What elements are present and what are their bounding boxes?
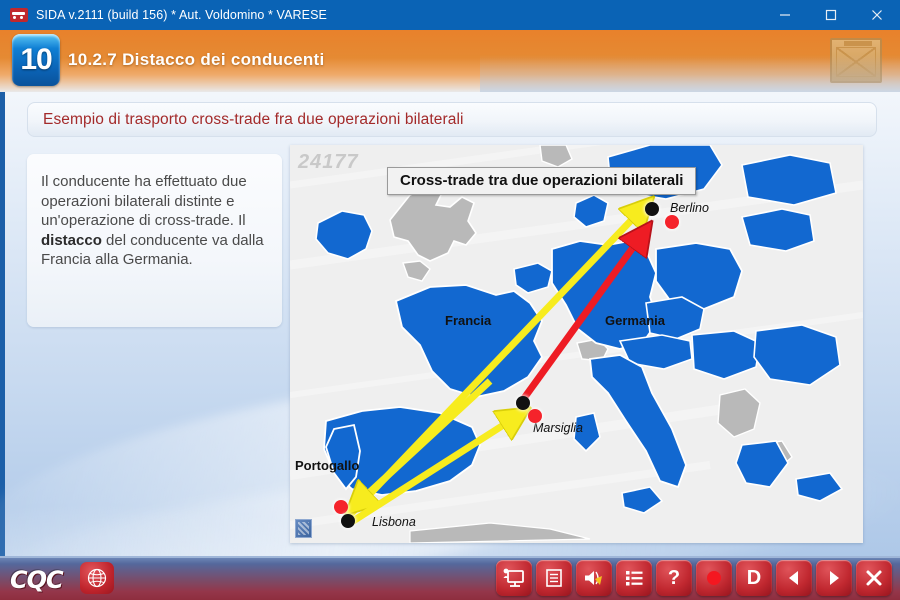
country-label-portogallo: Portogallo (295, 458, 359, 473)
maximize-icon[interactable] (808, 0, 854, 30)
globe-icon[interactable] (80, 562, 114, 594)
subtitle-banner: Esempio di trasporto cross-trade fra due… (27, 102, 877, 137)
explanation-panel: Il conducente ha effettuato due operazio… (27, 154, 282, 327)
marker-berlino-end (665, 215, 679, 229)
truck-icon (10, 8, 28, 22)
explanation-bold: distacco (41, 232, 102, 249)
marker-berlino-start (645, 202, 659, 216)
country-label-germania: Germania (605, 313, 665, 328)
cqc-logo: CQC (10, 566, 63, 594)
speaker-icon[interactable] (576, 560, 612, 596)
previous-icon[interactable] (776, 560, 812, 596)
help-icon[interactable]: ? (656, 560, 692, 596)
wooden-crate-icon (830, 38, 882, 83)
city-label-marsiglia: Marsiglia (533, 421, 583, 435)
exit-icon[interactable] (856, 560, 892, 596)
window-controls (762, 0, 900, 30)
toolbar-buttons: ? D (496, 560, 892, 596)
marker-marsiglia-end (528, 409, 542, 423)
map-stamp-icon (295, 519, 312, 538)
map-graphic (290, 145, 863, 543)
dictionary-icon[interactable]: D (736, 560, 772, 596)
window-title: SIDA v.2111 (build 156) * Aut. Voldomino… (36, 8, 327, 22)
minimize-icon[interactable] (762, 0, 808, 30)
country-baltics (742, 209, 814, 251)
city-label-berlino: Berlino (670, 201, 709, 215)
close-icon[interactable] (854, 0, 900, 30)
marker-marsiglia-start (516, 396, 530, 410)
chapter-header: 10 10.2.7 Distacco dei conducenti (0, 30, 900, 92)
dictionary-label: D (747, 568, 761, 588)
marker-lisbona-start (341, 514, 355, 528)
presentation-icon[interactable] (496, 560, 532, 596)
explanation-text: Il conducente ha effettuato due operazio… (41, 172, 268, 270)
subtitle-text: Esempio di trasporto cross-trade fra due… (43, 111, 464, 129)
title-bar: SIDA v.2111 (build 156) * Aut. Voldomino… (0, 0, 900, 30)
country-finland (742, 155, 836, 205)
document-icon[interactable] (536, 560, 572, 596)
europe-map: 24177 Cross-trade tra due operazioni bil… (290, 145, 863, 543)
chapter-number-badge: 10 (12, 34, 60, 86)
map-watermark: 24177 (298, 151, 359, 174)
help-label: ? (668, 568, 680, 588)
next-icon[interactable] (816, 560, 852, 596)
application-window: SIDA v.2111 (build 156) * Aut. Voldomino… (0, 0, 900, 600)
marker-lisbona-end (334, 500, 348, 514)
record-icon[interactable] (696, 560, 732, 596)
city-label-lisbona: Lisbona (372, 515, 416, 529)
country-label-francia: Francia (445, 313, 491, 328)
explanation-part-1: Il conducente ha effettuato due operazio… (41, 173, 247, 229)
list-icon[interactable] (616, 560, 652, 596)
page-title: 10.2.7 Distacco dei conducenti (68, 50, 325, 70)
map-title: Cross-trade tra due operazioni bilateral… (387, 167, 696, 195)
chapter-number: 10 (20, 45, 51, 75)
